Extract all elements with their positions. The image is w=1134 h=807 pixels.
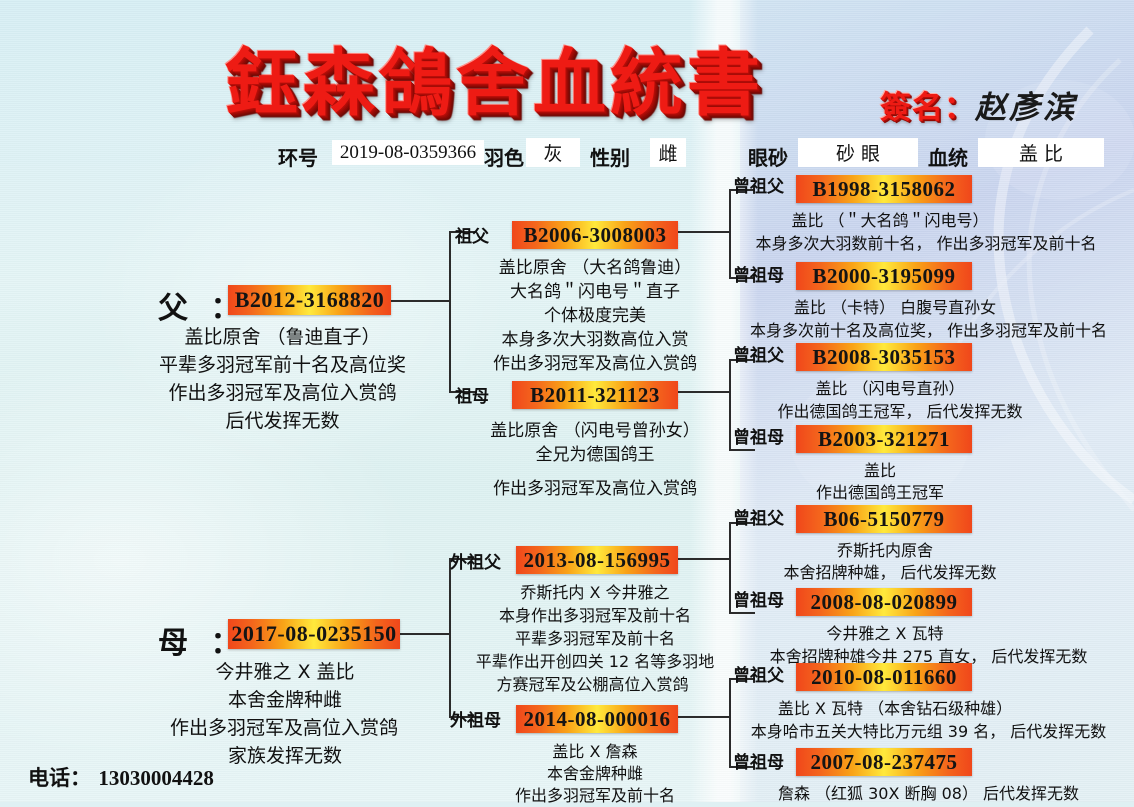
maternal-grandfather-note-5: 方赛冠军及公棚高位入赏鸽 — [450, 673, 735, 696]
grandmother-ring-chip: B2011-321123 — [512, 381, 678, 409]
great-grandfather-2-ring-chip: B2008-3035153 — [796, 343, 972, 371]
grandfather-note-3: 个体极度完美 — [460, 304, 730, 328]
maternal-grandfather-note-3: 平辈多羽冠军及前十名 — [455, 627, 735, 650]
great-grandfather-3-note-1: 乔斯托内原舍 — [760, 539, 1010, 562]
father-note-2: 平辈多羽冠军前十名及高位奖 — [140, 352, 425, 379]
great-grandmother-3-ring-chip: 2008-08-020899 — [796, 588, 972, 616]
feather-color-label: 羽色 — [484, 142, 524, 171]
great-grandmother-2-note-2: 作出德国鸽王冠军 — [760, 481, 1000, 504]
grandfather-ring-chip: B2006-3008003 — [512, 221, 678, 249]
great-grandmother-4-ring-chip: 2007-08-237475 — [796, 748, 972, 776]
bloodline-label: 血统 — [928, 142, 968, 171]
eye-sand-value: 砂 眼 — [798, 138, 918, 167]
relation-great-grandfather-4: 曾祖父 — [733, 661, 784, 686]
relation-great-grandfather-2: 曾祖父 — [733, 341, 784, 366]
father-ring-chip: B2012-3168820 — [228, 285, 391, 315]
bloodline-value: 盖 比 — [978, 138, 1104, 167]
relation-great-grandfather-1: 曾祖父 — [733, 172, 784, 197]
great-grandfather-1-ring-chip: B1998-3158062 — [796, 175, 972, 203]
connector — [678, 391, 730, 393]
grandmother-note-1: 盖比原舍 （闪电号曾孙女） — [455, 419, 735, 443]
maternal-grandfather-note-2: 本身作出多羽冠军及前十名 — [455, 604, 735, 627]
great-grandfather-4-ring-chip: 2010-08-011660 — [796, 663, 972, 691]
grandfather-note-5: 作出多羽冠军及高位入赏鸽 — [460, 352, 730, 376]
great-grandmother-2-ring-chip: B2003-321271 — [796, 425, 972, 453]
maternal-grandfather-note-4: 平辈作出开创四关 12 名等多羽地 — [450, 650, 740, 673]
maternal-grandmother-note-3: 作出多羽冠军及前十名 — [455, 784, 735, 807]
signature-label: 簽名： — [880, 82, 976, 127]
great-grandfather-2-note-1: 盖比 （闪电号直孙） — [750, 377, 1030, 400]
relation-great-grandmother-4: 曾祖母 — [733, 748, 784, 773]
eye-sand-label: 眼砂 — [748, 142, 788, 171]
ring-number-value: 2019-08-0359366 — [332, 140, 484, 165]
grandfather-note-1: 盖比原舍 （大名鸽鲁迪） — [460, 256, 730, 280]
great-grandfather-4-note-2: 本身哈市五关大特比万元组 39 名， 后代发挥无数 — [726, 720, 1131, 743]
great-grandfather-3-ring-chip: B06-5150779 — [796, 505, 972, 533]
connector — [678, 558, 730, 560]
relation-maternal-grandmother: 外祖母 — [450, 706, 501, 731]
father-note-1: 盖比原舍 （鲁迪直子） — [155, 324, 410, 351]
great-grandfather-2-note-2: 作出德国鸽王冠军， 后代发挥无数 — [740, 400, 1060, 423]
grandfather-note-4: 本身多次大羽数高位入赏 — [460, 328, 730, 352]
feather-color-value: 灰 — [526, 138, 580, 167]
ring-number-label: 环号 — [278, 142, 318, 171]
sex-label: 性别 — [590, 142, 630, 171]
great-grandfather-4-note-1: 盖比 X 瓦特 （本舍钻石级种雄） — [745, 697, 1045, 720]
relation-grandmother: 祖母 — [455, 382, 489, 407]
great-grandmother-1-ring-chip: B2000-3195099 — [796, 262, 972, 290]
connector — [449, 232, 451, 392]
maternal-grandmother-ring-chip: 2014-08-000016 — [516, 705, 678, 733]
great-grandmother-3-note-1: 今井雅之 X 瓦特 — [760, 622, 1010, 645]
phone-number: 13030004428 — [98, 766, 214, 790]
mother-ring-chip: 2017-08-0235150 — [228, 619, 400, 649]
father-note-3: 作出多羽冠军及高位入赏鸽 — [140, 380, 425, 407]
mother-note-3: 作出多羽冠军及高位入赏鸽 — [140, 715, 428, 742]
relation-great-grandfather-3: 曾祖父 — [733, 504, 784, 529]
connector — [390, 300, 450, 302]
great-grandmother-1-note-1: 盖比 （卡特） 白腹号直孙女 — [745, 296, 1045, 319]
phone-label: 电话： — [28, 766, 91, 790]
maternal-grandmother-note-2: 本舍金牌种雌 — [455, 762, 735, 785]
connector — [678, 231, 730, 233]
maternal-grandfather-note-1: 乔斯托内 X 今井雅之 — [455, 581, 735, 604]
mother-note-1: 今井雅之 X 盖比 — [175, 659, 395, 686]
grandmother-note-3: 作出多羽冠军及高位入赏鸽 — [455, 477, 735, 501]
relation-great-grandmother-3: 曾祖母 — [733, 586, 784, 611]
phone-line: 电话： 13030004428 — [28, 762, 214, 792]
great-grandmother-2-note-1: 盖比 — [760, 459, 1000, 482]
great-grandfather-1-note-2: 本身多次大羽数前十名， 作出多羽冠军及前十名 — [726, 232, 1126, 255]
maternal-grandmother-note-1: 盖比 X 詹森 — [455, 740, 735, 763]
grandmother-note-2: 全兄为德国鸽王 — [455, 443, 735, 467]
sex-value: 雌 — [650, 138, 686, 167]
signature-value: 赵彥滨 — [975, 82, 1077, 127]
father-note-4: 后代发挥无数 — [165, 408, 400, 435]
relation-great-grandmother-1: 曾祖母 — [733, 261, 784, 286]
great-grandmother-1-note-2: 本身多次前十名及高位奖， 作出多羽冠军及前十名 — [726, 319, 1131, 342]
connector — [678, 716, 730, 718]
mother-note-2: 本舍金牌种雌 — [175, 687, 395, 714]
relation-grandfather: 祖父 — [455, 222, 489, 247]
great-grandfather-1-note-1: 盖比 （＂大名鸽＂闪电号） — [750, 209, 1030, 232]
great-grandfather-3-note-2: 本舍招牌种雄， 后代发挥无数 — [740, 561, 1040, 584]
relation-maternal-grandfather: 外祖父 — [450, 548, 501, 573]
maternal-grandfather-ring-chip: 2013-08-156995 — [516, 546, 678, 574]
relation-great-grandmother-2: 曾祖母 — [733, 423, 784, 448]
grandfather-note-2: 大名鸽＂闪电号＂直子 — [460, 280, 730, 304]
page-title: 鈺森鴿舍血統書 — [225, 24, 764, 130]
